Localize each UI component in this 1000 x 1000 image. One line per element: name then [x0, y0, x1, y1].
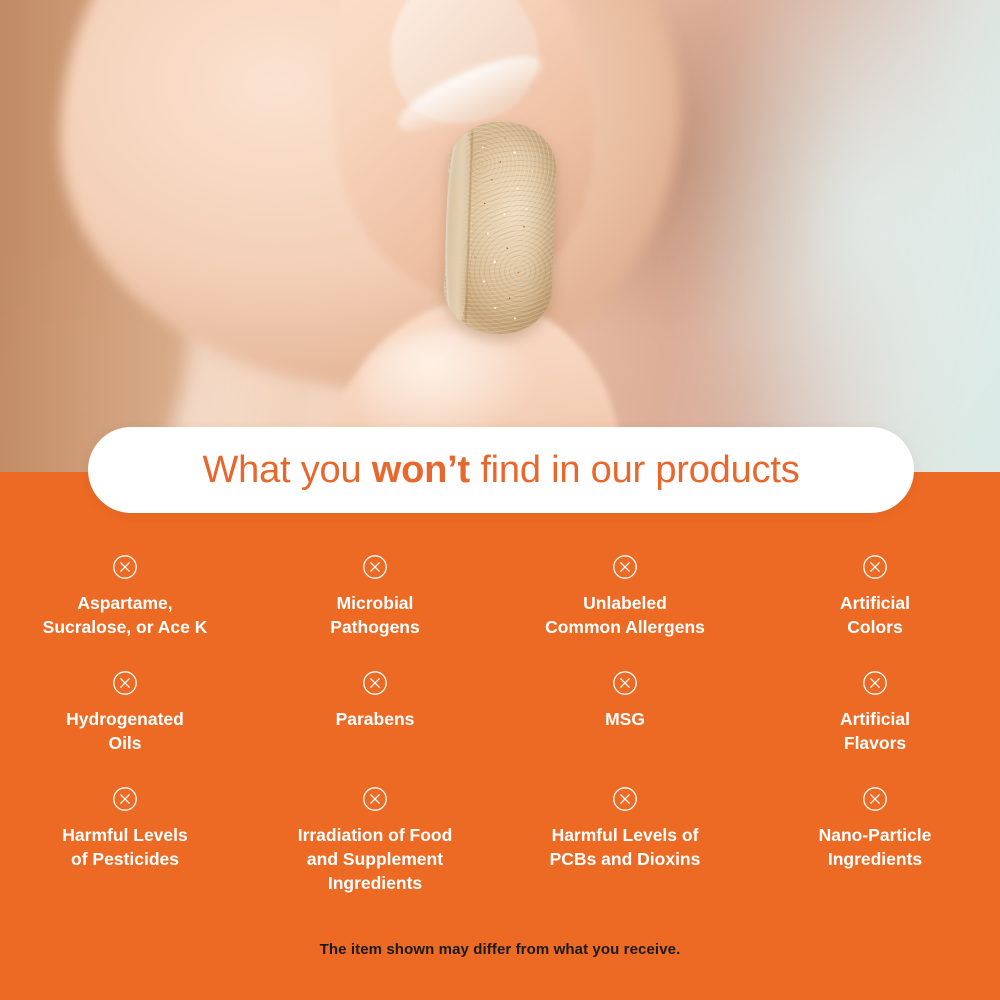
grid-item: Harmful Levels of PCBs and Dioxins: [500, 768, 750, 884]
product-claims-infographic: What you won’t find in our products Aspa…: [0, 0, 1000, 1000]
grid-item-label: Irradiation of Food and Supplement Ingre…: [298, 823, 453, 895]
grid-item-label: Aspartame, Sucralose, or Ace K: [43, 591, 208, 639]
grid-item-label: Harmful Levels of Pesticides: [62, 823, 187, 871]
grid-item: MSG: [500, 652, 750, 768]
grid-item-label: MSG: [605, 707, 645, 731]
grid-item: Unlabeled Common Allergens: [500, 536, 750, 652]
grid-item: Aspartame, Sucralose, or Ace K: [0, 536, 250, 652]
x-circle-icon: [612, 670, 638, 696]
title-part-2: find in our products: [470, 449, 800, 491]
grid-item: Hydrogenated Oils: [0, 652, 250, 768]
grid-item-label: Artificial Flavors: [840, 707, 910, 755]
grid-item-label: Nano-Particle Ingredients: [819, 823, 932, 871]
grid-item-label: Unlabeled Common Allergens: [545, 591, 705, 639]
disclaimer-text: The item shown may differ from what you …: [0, 941, 1000, 958]
grid-item-label: Harmful Levels of PCBs and Dioxins: [550, 823, 701, 871]
x-circle-icon: [862, 554, 888, 580]
supplement-tablet: [442, 120, 557, 336]
x-circle-icon: [362, 670, 388, 696]
excluded-ingredients-grid: Aspartame, Sucralose, or Ace K Microbial…: [0, 536, 1000, 884]
x-circle-icon: [862, 670, 888, 696]
grid-item: Artificial Flavors: [750, 652, 1000, 768]
title-pill: What you won’t find in our products: [88, 427, 914, 513]
grid-item: Parabens: [250, 652, 500, 768]
grid-item-label: Artificial Colors: [840, 591, 910, 639]
x-circle-icon: [612, 554, 638, 580]
title-part-1: What you: [202, 449, 371, 491]
grid-item: Harmful Levels of Pesticides: [0, 768, 250, 884]
x-circle-icon: [362, 786, 388, 812]
grid-item: Microbial Pathogens: [250, 536, 500, 652]
grid-item-label: Hydrogenated Oils: [66, 707, 184, 755]
page-title: What you won’t find in our products: [202, 451, 799, 489]
x-circle-icon: [612, 786, 638, 812]
grid-item: Artificial Colors: [750, 536, 1000, 652]
grid-item-label: Microbial Pathogens: [330, 591, 419, 639]
x-circle-icon: [862, 786, 888, 812]
product-photo: [0, 0, 1000, 472]
x-circle-icon: [362, 554, 388, 580]
grid-item: Irradiation of Food and Supplement Ingre…: [250, 768, 500, 884]
tablet-body: [442, 120, 557, 336]
title-emphasis: won’t: [372, 449, 470, 491]
grid-item: Nano-Particle Ingredients: [750, 768, 1000, 884]
x-circle-icon: [112, 554, 138, 580]
photo-mint-glow: [680, 0, 1000, 472]
x-circle-icon: [112, 670, 138, 696]
x-circle-icon: [112, 786, 138, 812]
grid-item-label: Parabens: [336, 707, 415, 731]
